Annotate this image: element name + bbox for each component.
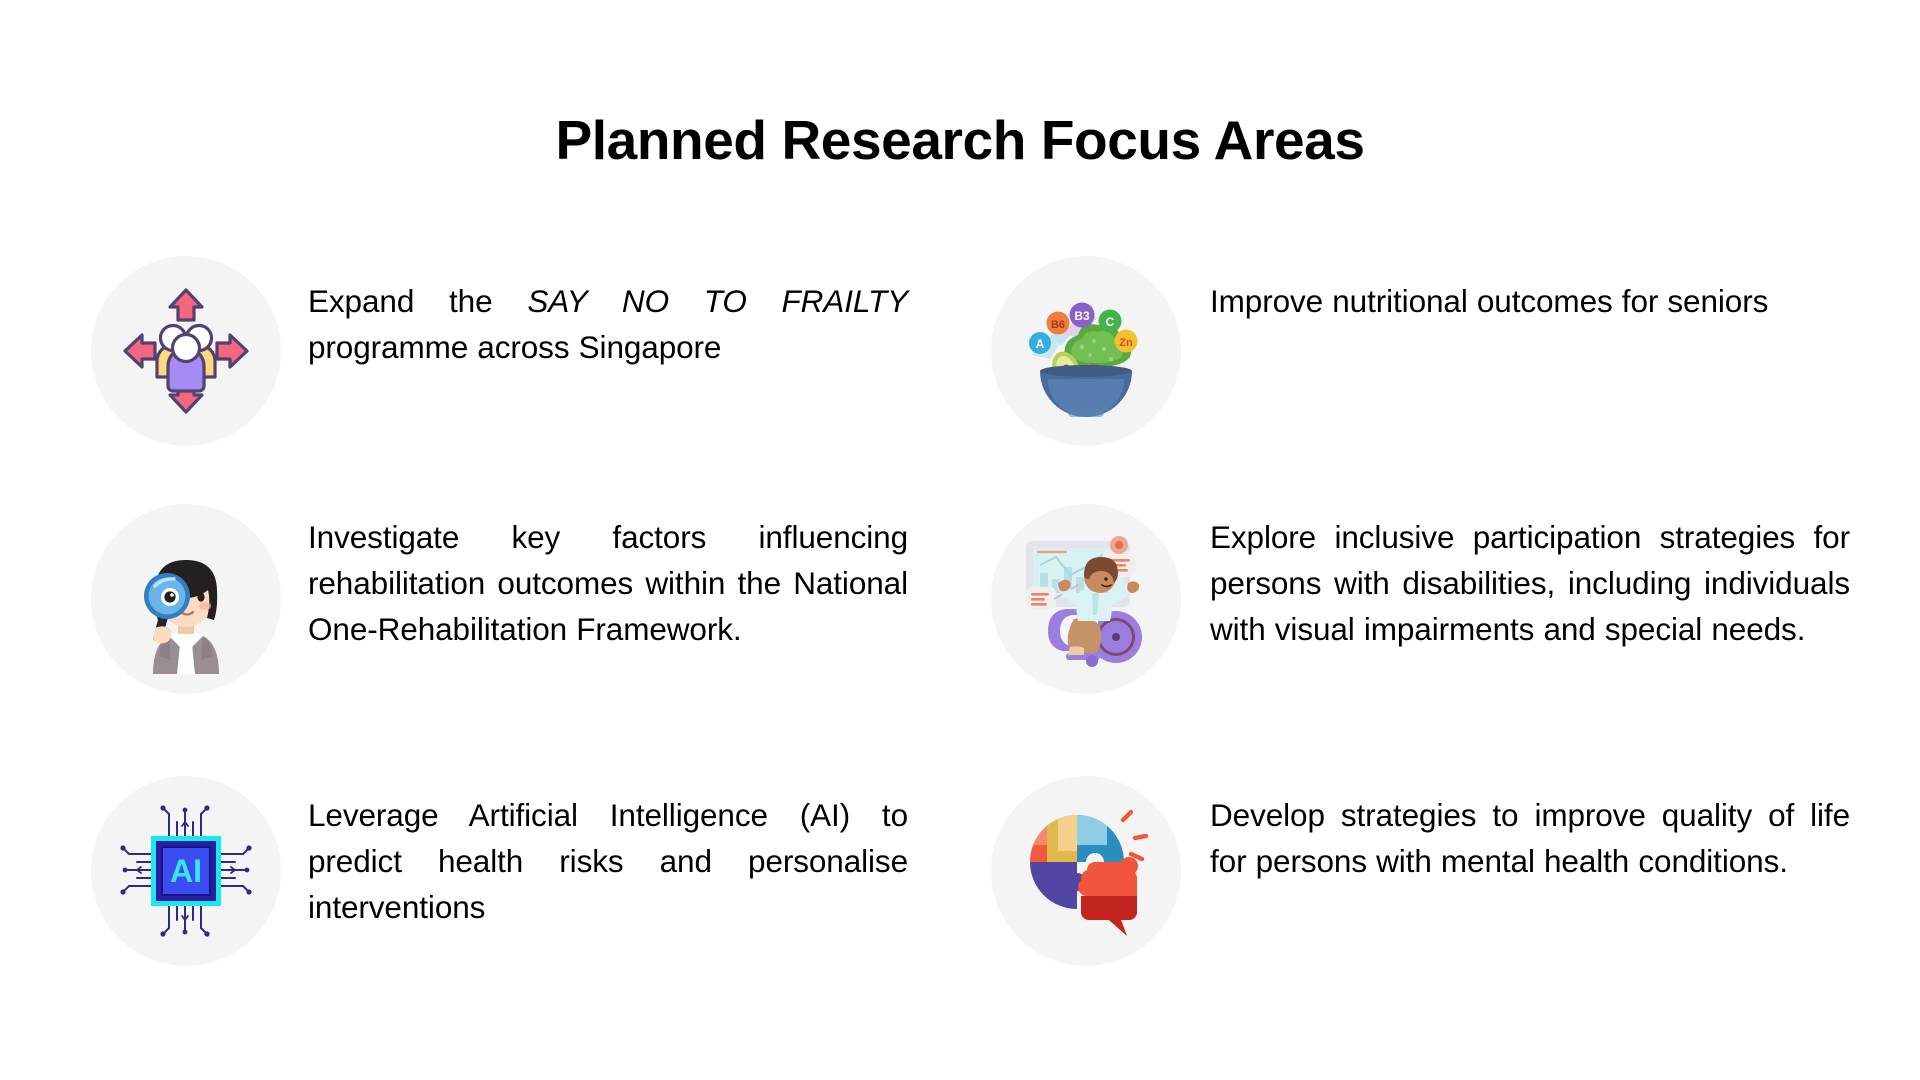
focus-area-item: A B6 B3 C: [990, 255, 1850, 503]
focus-area-text: Explore inclusive participation strategi…: [1210, 503, 1850, 653]
nutrition-bowl-icon: A B6 B3 C: [991, 256, 1181, 446]
page-title: Planned Research Focus Areas: [0, 110, 1920, 171]
text-after: programme across Singapore: [308, 329, 721, 365]
slide-root: Planned Research Focus Areas: [0, 0, 1920, 1080]
focus-area-item: Investigate key factors influencing reha…: [90, 503, 950, 775]
group-expansion-icon: [91, 256, 281, 446]
ai-chip-icon: AI: [91, 776, 281, 966]
mental-health-puzzle-icon: [991, 776, 1181, 966]
focus-area-text: Investigate key factors influencing reha…: [308, 503, 908, 653]
svg-text:B6: B6: [1051, 319, 1065, 331]
focus-areas-grid: Expand the SAY NO TO FRAILTY programme a…: [90, 255, 1850, 1023]
focus-area-item: Develop strategies to improve quality of…: [990, 775, 1850, 1023]
focus-area-text: Expand the SAY NO TO FRAILTY programme a…: [308, 255, 908, 371]
icon-container: AI: [90, 775, 282, 967]
researcher-magnifier-icon: [91, 504, 281, 694]
icon-container: [990, 775, 1182, 967]
focus-area-text: Leverage Artificial Intelligence (AI) to…: [308, 775, 908, 931]
svg-text:Zn: Zn: [1119, 337, 1133, 349]
icon-container: [990, 503, 1182, 695]
svg-text:AI: AI: [170, 853, 202, 889]
focus-area-text: Develop strategies to improve quality of…: [1210, 775, 1850, 885]
focus-area-item: Explore inclusive participation strategi…: [990, 503, 1850, 775]
icon-container: [90, 503, 282, 695]
icon-container: [90, 255, 282, 447]
focus-area-text: Improve nutritional outcomes for seniors: [1210, 255, 1850, 325]
wheelchair-presenter-icon: [991, 504, 1181, 694]
text-before: Expand the: [308, 283, 527, 319]
svg-text:B3: B3: [1074, 309, 1090, 323]
text-emphasis: SAY NO TO FRAILTY: [527, 283, 908, 319]
focus-area-item: Expand the SAY NO TO FRAILTY programme a…: [90, 255, 950, 503]
icon-container: A B6 B3 C: [990, 255, 1182, 447]
svg-text:A: A: [1036, 337, 1045, 351]
focus-area-item: AI Leverage Artificial Intelligence (AI)…: [90, 775, 950, 1023]
svg-text:C: C: [1106, 315, 1115, 329]
